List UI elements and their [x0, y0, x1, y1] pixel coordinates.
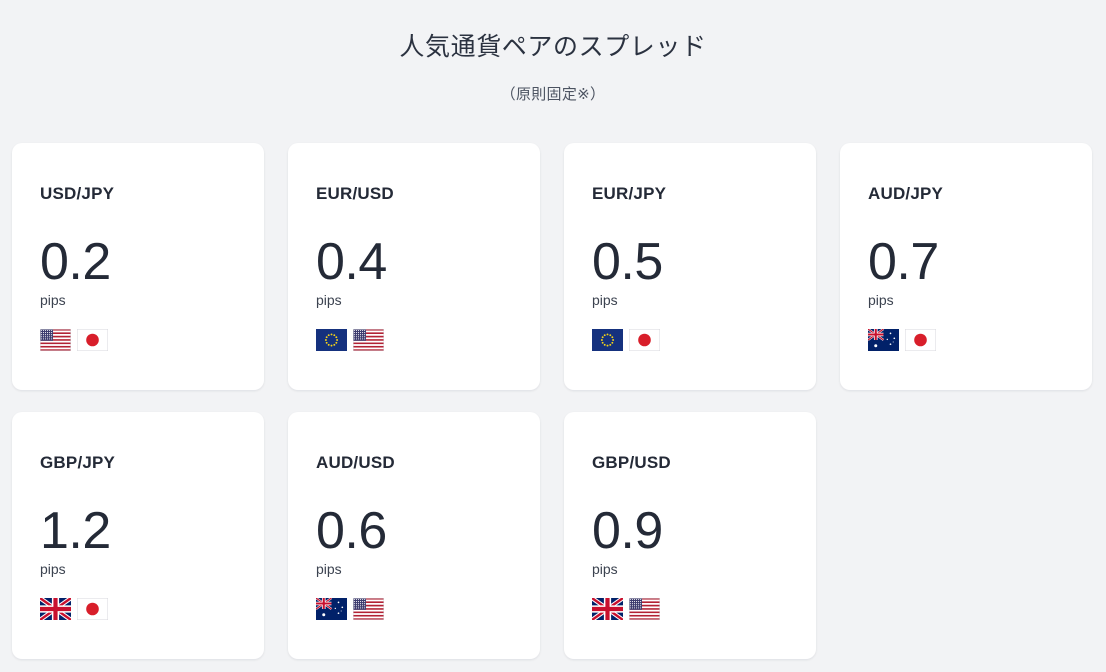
spread-unit-label: pips	[592, 560, 788, 578]
currency-pair-label: EUR/USD	[316, 183, 512, 205]
jp-flag	[905, 329, 936, 351]
spread-value: 0.7	[868, 234, 1064, 290]
spread-card[interactable]: GBP/USD0.9pips	[564, 412, 816, 659]
spread-unit-label: pips	[316, 560, 512, 578]
spread-page: 人気通貨ペアのスプレッド （原則固定※） USD/JPY0.2pipsEUR/U…	[0, 0, 1106, 672]
spread-value: 0.5	[592, 234, 788, 290]
spread-card[interactable]: EUR/USD0.4pips	[288, 143, 540, 390]
spread-card[interactable]: USD/JPY0.2pips	[12, 143, 264, 390]
au-flag	[868, 329, 899, 351]
spread-unit-label: pips	[592, 291, 788, 309]
eu-flag	[316, 329, 347, 351]
au-flag	[316, 598, 347, 620]
currency-pair-label: AUD/USD	[316, 452, 512, 474]
gb-flag	[592, 598, 623, 620]
currency-pair-label: USD/JPY	[40, 183, 236, 205]
flag-pair	[868, 329, 1064, 351]
currency-pair-label: EUR/JPY	[592, 183, 788, 205]
gb-flag	[40, 598, 71, 620]
us-flag	[353, 329, 384, 351]
jp-flag	[77, 329, 108, 351]
us-flag	[353, 598, 384, 620]
currency-pair-label: AUD/JPY	[868, 183, 1064, 205]
spread-card[interactable]: AUD/JPY0.7pips	[840, 143, 1092, 390]
spread-unit-label: pips	[40, 291, 236, 309]
flag-pair	[316, 329, 512, 351]
spread-card-grid: USD/JPY0.2pipsEUR/USD0.4pipsEUR/JPY0.5pi…	[12, 143, 1094, 659]
page-title: 人気通貨ペアのスプレッド	[0, 28, 1106, 66]
page-header: 人気通貨ペアのスプレッド （原則固定※）	[0, 0, 1106, 106]
spread-unit-label: pips	[316, 291, 512, 309]
spread-value: 0.6	[316, 503, 512, 559]
spread-unit-label: pips	[868, 291, 1064, 309]
spread-unit-label: pips	[40, 560, 236, 578]
spread-card[interactable]: GBP/JPY1.2pips	[12, 412, 264, 659]
spread-value: 1.2	[40, 503, 236, 559]
currency-pair-label: GBP/JPY	[40, 452, 236, 474]
spread-card[interactable]: AUD/USD0.6pips	[288, 412, 540, 659]
page-subtitle: （原則固定※）	[0, 84, 1106, 106]
us-flag	[629, 598, 660, 620]
flag-pair	[316, 598, 512, 620]
spread-card[interactable]: EUR/JPY0.5pips	[564, 143, 816, 390]
flag-pair	[592, 598, 788, 620]
spread-value: 0.4	[316, 234, 512, 290]
us-flag	[40, 329, 71, 351]
spread-value: 0.9	[592, 503, 788, 559]
flag-pair	[40, 598, 236, 620]
spread-value: 0.2	[40, 234, 236, 290]
jp-flag	[77, 598, 108, 620]
flag-pair	[40, 329, 236, 351]
eu-flag	[592, 329, 623, 351]
flag-pair	[592, 329, 788, 351]
currency-pair-label: GBP/USD	[592, 452, 788, 474]
jp-flag	[629, 329, 660, 351]
